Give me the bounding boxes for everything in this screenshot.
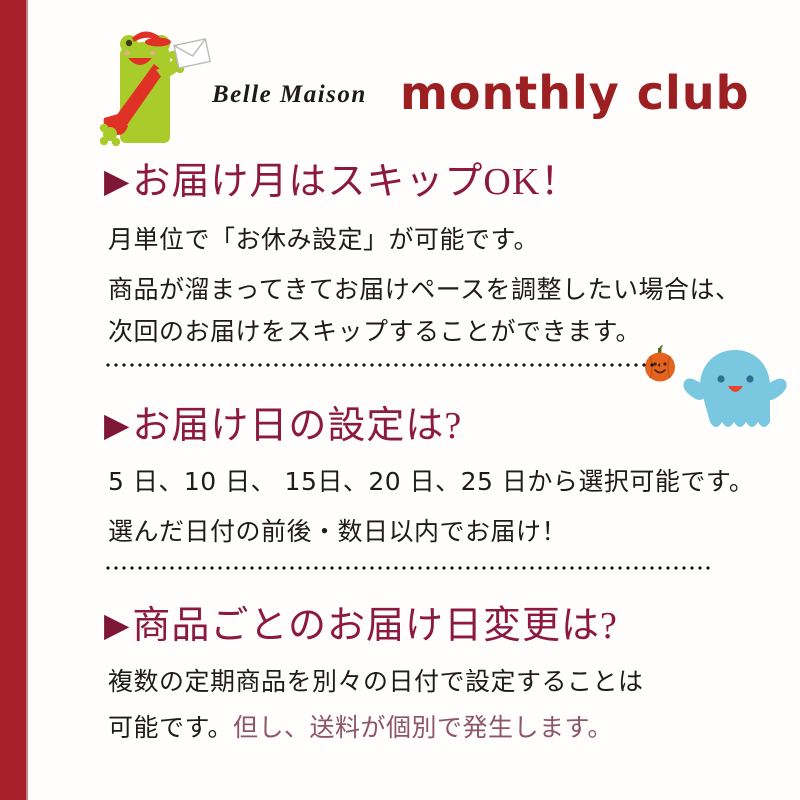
section-1-line-2: 商品が溜まってきてお届けペースを調整したい場合は、 <box>108 270 741 306</box>
promo-page: Belle Maison monthly club ▶お届け月はスキップOK！ … <box>0 0 800 800</box>
brand-name: Belle Maison <box>212 81 367 109</box>
ghost-icon <box>680 348 790 438</box>
triangle-marker-icon: ▶ <box>104 164 130 200</box>
section-2-line-2: 選んだ日付の前後・数日以内でお届け！ <box>108 512 567 548</box>
dotted-divider-1 <box>104 363 660 367</box>
triangle-marker-icon: ▶ <box>104 608 130 644</box>
brand-header: Belle Maison monthly club <box>0 18 800 148</box>
shipping-fee-note: 但し、送料が個別で発生します。 <box>233 713 613 742</box>
triangle-marker-icon: ▶ <box>104 408 130 444</box>
section-3-line-2-plain: 可能です。 <box>108 713 233 742</box>
section-1-heading: ▶お届け月はスキップOK！ <box>104 150 579 205</box>
section-1-line-3: 次回のお届けをスキップすることができます。 <box>108 312 641 348</box>
section-3-line-2: 可能です。但し、送料が個別で発生します。 <box>108 708 613 744</box>
section-2-heading-text: お届け日の設定は? <box>132 405 462 447</box>
section-3-line-1: 複数の定期商品を別々の日付で設定することは <box>108 662 644 698</box>
section-1-line-1: 月単位で「お休み設定」が可能です。 <box>108 220 539 256</box>
section-3-heading-text: 商品ごとのお届け日変更は? <box>132 605 618 647</box>
section-3-heading: ▶商品ごとのお届け日変更は? <box>104 594 618 649</box>
frog-mailman-icon <box>96 26 212 156</box>
section-2-line-1: 5 日、10 日、 15日、20 日、25 日から選択可能です。 <box>108 462 754 498</box>
section-1-heading-text: お届け月はスキップOK！ <box>132 161 579 203</box>
dotted-divider-2 <box>104 566 712 570</box>
section-2-heading: ▶お届け日の設定は? <box>104 394 462 449</box>
brand-club-title: monthly club <box>400 66 750 120</box>
